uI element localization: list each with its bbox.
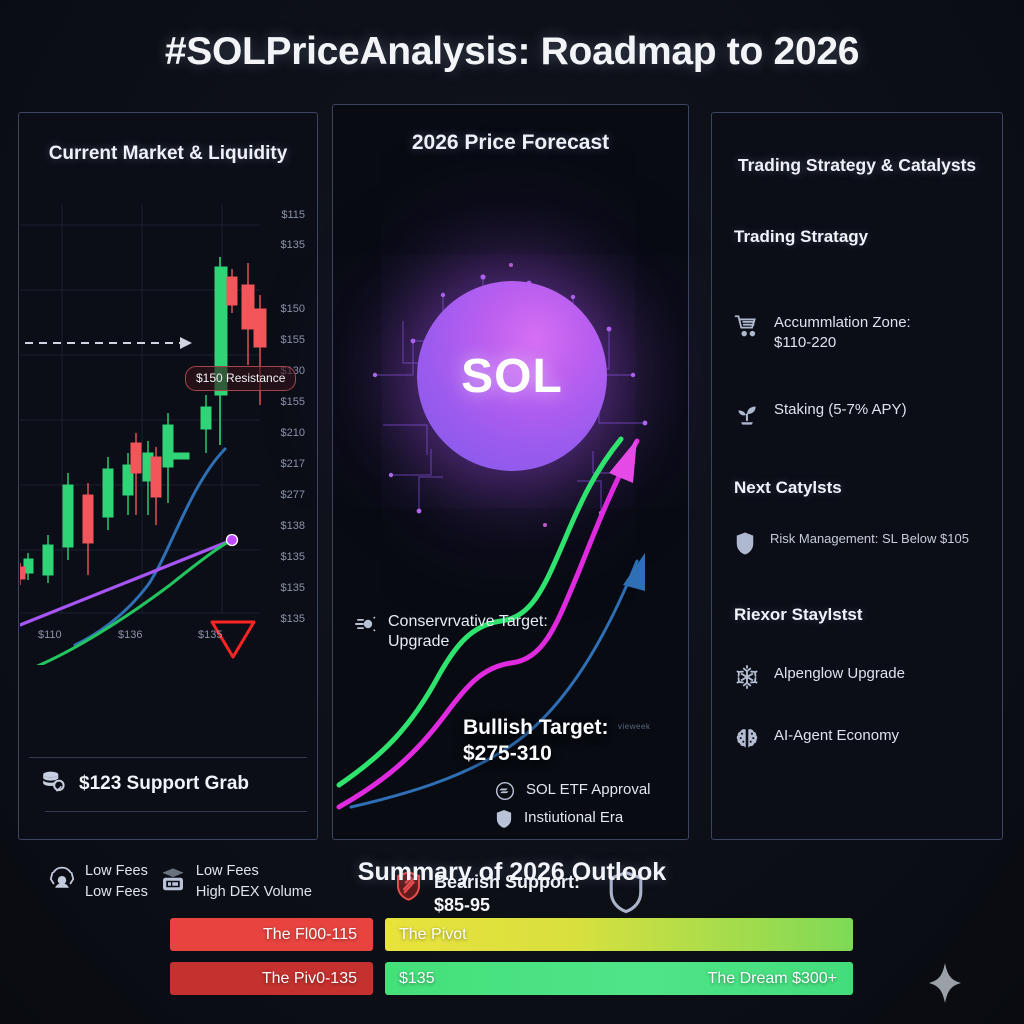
panel-trading-strategy: Trading Strategy & Catalysts Trading Str… — [711, 112, 1003, 840]
infographic-root: #SOLPriceAnalysis: Roadmap to 2026 Curre… — [0, 0, 1024, 1024]
brain-icon — [734, 726, 760, 757]
section-riexor: Riexor Staylstst — [734, 605, 863, 625]
shield-icon — [734, 531, 756, 562]
bullish-line2: $275-310 — [463, 741, 608, 767]
snowflake-icon — [734, 664, 760, 695]
accumulation-zone-text: Accummlation Zone: $110-220 — [774, 313, 911, 352]
page-title: #SOLPriceAnalysis: Roadmap to 2026 — [0, 30, 1024, 74]
right-panel-heading: Trading Strategy & Catalysts — [712, 155, 1002, 176]
staking-plant-icon — [734, 400, 760, 431]
x-tick-2: $135 — [198, 629, 222, 641]
item-accumulation-zone: Accummlation Zone: $110-220 — [734, 313, 911, 352]
y-tick-10: $135 — [281, 551, 305, 563]
catalyst-etf-label: SOL ETF Approval — [526, 781, 651, 798]
section-trading-strategy: Trading Stratagy — [734, 227, 868, 247]
coins-icon — [41, 768, 67, 799]
item-ai-agent-economy: AI-Agent Economy — [734, 726, 899, 757]
y-tick-12: $135 — [281, 613, 305, 625]
y-tick-8: $277 — [281, 489, 305, 501]
resistance-badge: $150 Resistance — [185, 366, 296, 391]
y-tick-5: $155 — [281, 396, 305, 408]
center-panel-heading: 2026 Price Forecast — [333, 131, 688, 155]
catalyst-institutional-label: Instiutional Era — [524, 809, 623, 826]
divider-bottom — [45, 811, 307, 812]
staking-text: Staking (5-7% APY) — [774, 400, 907, 420]
summary-bar-dream-left: $135 — [399, 970, 435, 988]
shield-icon — [495, 809, 513, 834]
panel-current-market: Current Market & Liquidity — [18, 112, 318, 840]
summary-bar-pivot: The Pivot — [385, 918, 853, 951]
y-tick-6: $210 — [281, 427, 305, 439]
conservative-target-row: Conservrvative Target: Upgrade — [353, 612, 548, 653]
y-tick-9: $138 — [281, 520, 305, 532]
summary-bar-pivot-label: The Pivot — [399, 926, 467, 944]
y-tick-0: $115 — [281, 209, 305, 221]
cart-icon — [734, 313, 760, 344]
item-alpenglow: Alpenglow Upgrade — [734, 664, 905, 695]
sparkle-icon — [928, 962, 962, 1009]
candlestick-chart: $115 $135 $150 $155 $130 $155 $210 $217 … — [20, 185, 317, 665]
accumulation-line2: $110-220 — [774, 333, 911, 353]
risk-management-text: Risk Management: SL Below $105 — [770, 531, 969, 548]
alpenglow-text: Alpenglow Upgrade — [774, 664, 905, 684]
x-tick-1: $136 — [118, 629, 142, 641]
catalyst-row-institutional: Instiutional Era — [495, 809, 623, 834]
support-grab-row: $123 Support Grab — [41, 768, 249, 799]
bearish-line2: $85-95 — [434, 894, 580, 917]
x-tick-0: $110 — [38, 629, 62, 641]
summary-bar-floor-label: The Fl00-115 — [263, 926, 357, 944]
y-tick-11: $135 — [281, 582, 305, 594]
speed-icon — [353, 612, 377, 641]
bullish-target-text: Bullish Target: $275-310 — [463, 715, 608, 767]
y-tick-7: $217 — [281, 458, 305, 470]
conservative-line1: Conservrvative Target: — [388, 612, 548, 632]
summary-bar-dream: $135 The Dream $300+ — [385, 962, 853, 995]
y-tick-2: $150 — [281, 303, 305, 315]
conservative-line2: Upgrade — [388, 632, 548, 652]
catalyst-row-etf: SOL ETF Approval — [495, 781, 651, 806]
item-staking: Staking (5-7% APY) — [734, 400, 907, 431]
panel-price-forecast: 2026 Price Forecast — [332, 104, 689, 840]
y-tick-1: $135 — [281, 239, 305, 251]
sol-orb-label: SOL — [461, 349, 563, 404]
bullish-line1: Bullish Target: — [463, 715, 608, 741]
sol-coin-icon — [495, 781, 515, 806]
section-next-catalysts: Next Catylsts — [734, 478, 842, 498]
summary-bar-pivot-range-label: The Piv0-135 — [262, 970, 357, 988]
accumulation-line1: Accummlation Zone: — [774, 313, 911, 333]
conservative-target-text: Conservrvative Target: Upgrade — [388, 612, 548, 653]
watermark-text: vieweek — [618, 722, 650, 731]
item-risk-management: Risk Management: SL Below $105 — [734, 531, 969, 562]
summary-bar-dream-right: The Dream $300+ — [708, 970, 837, 988]
support-grab-label: $123 Support Grab — [79, 773, 249, 795]
y-tick-3: $155 — [281, 334, 305, 346]
summary-bar-floor: The Fl00-115 — [170, 918, 373, 951]
summary-title: Summary of 2026 Outlook — [0, 858, 1024, 887]
ai-agent-text: AI-Agent Economy — [774, 726, 899, 746]
left-panel-heading: Current Market & Liquidity — [19, 143, 317, 165]
summary-bar-pivot-range: The Piv0-135 — [170, 962, 373, 995]
divider-top — [29, 757, 307, 758]
